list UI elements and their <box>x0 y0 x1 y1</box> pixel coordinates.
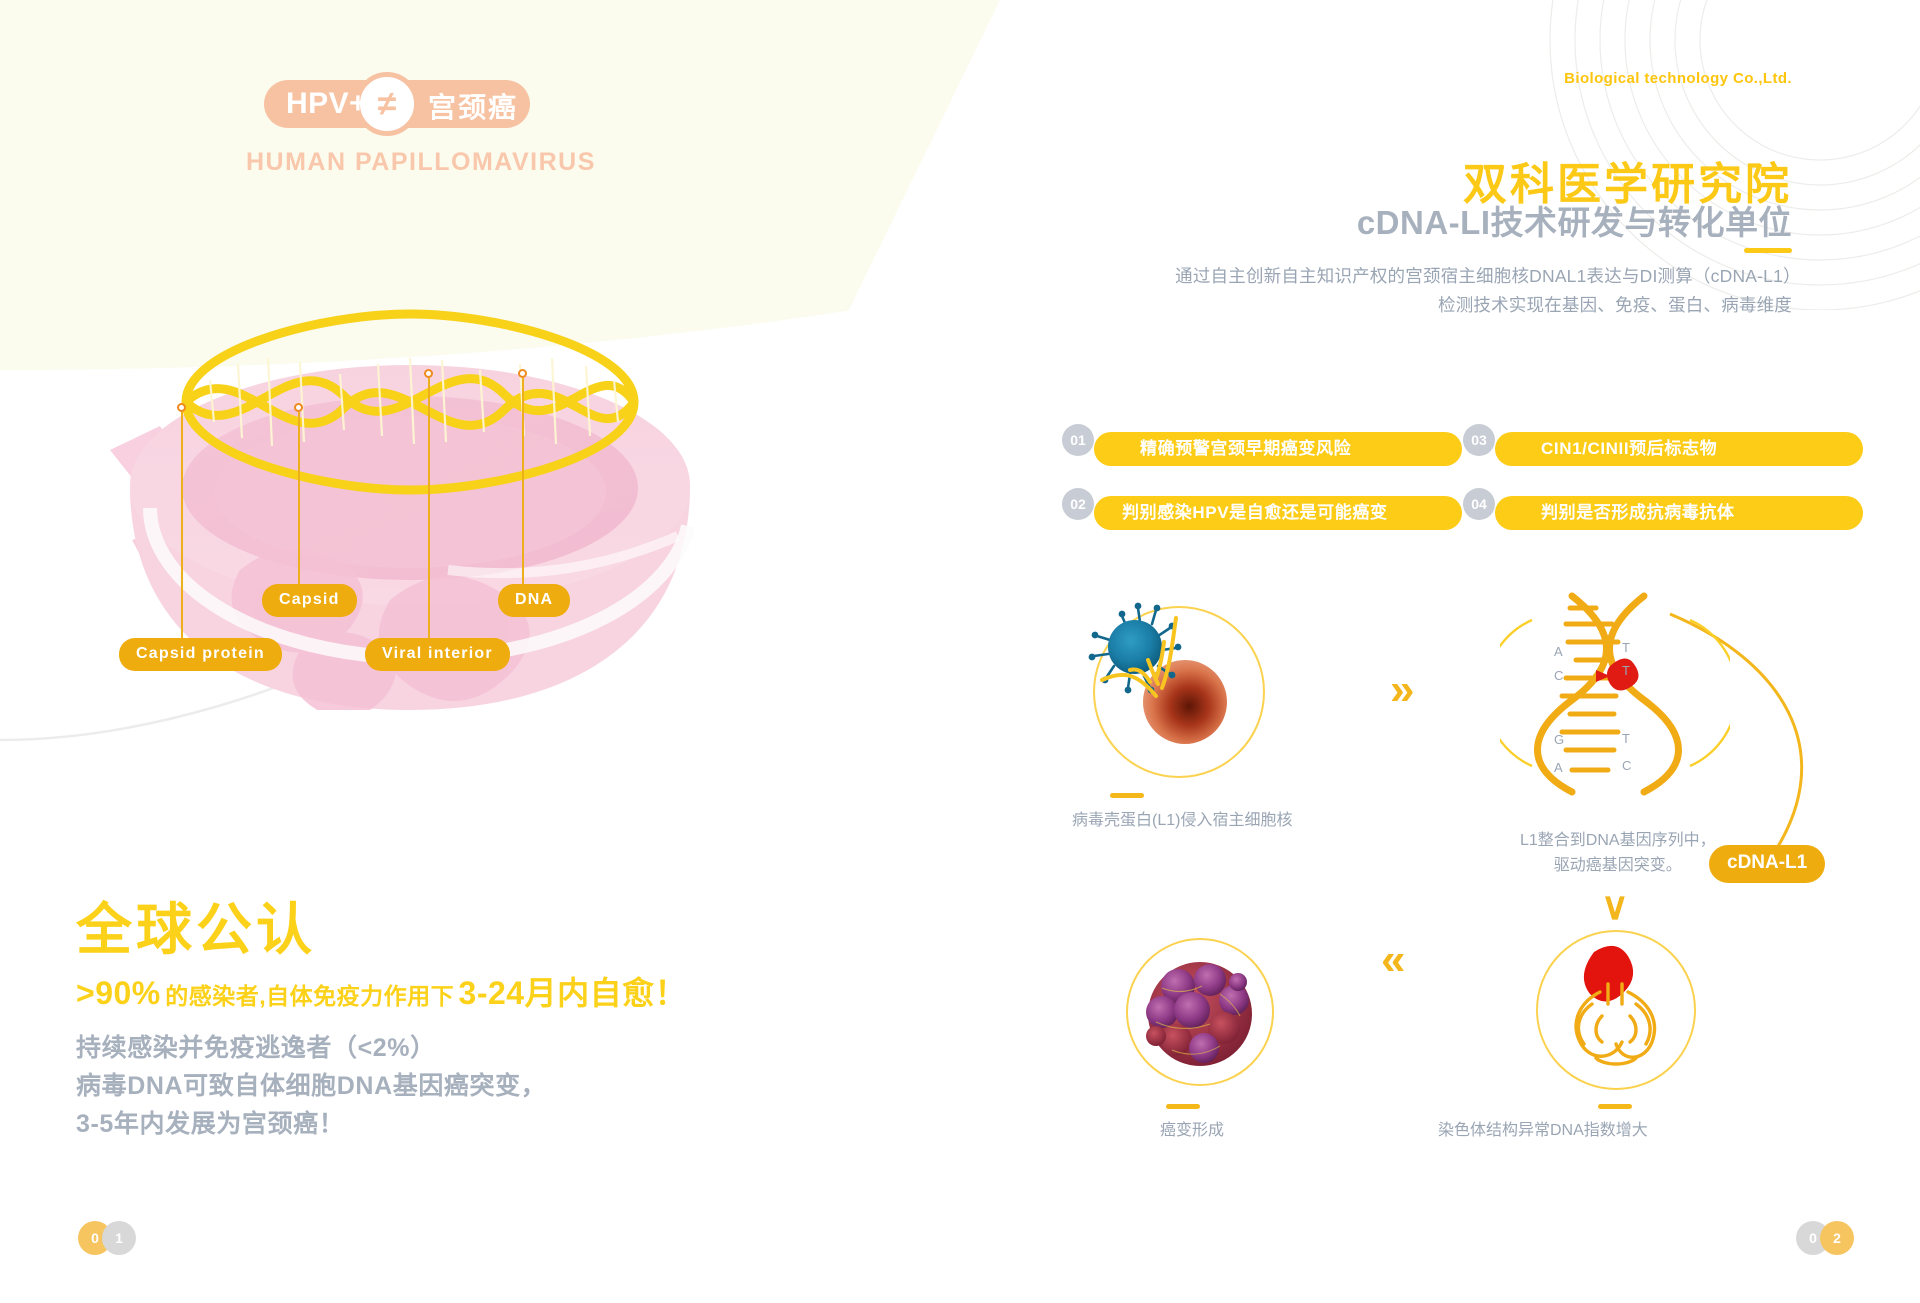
feature-label-02: 判别感染HPV是自愈还是可能癌变 <box>1122 496 1388 530</box>
callout-line-capsid <box>298 412 300 584</box>
statistics-line: >90% 的感染者,自体免疫力作用下 3-24月内自愈！ <box>76 968 687 1014</box>
feature-number-02: 02 <box>1062 488 1094 520</box>
callout-capsid-protein: Capsid protein <box>119 638 282 671</box>
callout-line-capsid-protein <box>181 412 183 638</box>
feature-label-04: 判别是否形成抗病毒抗体 <box>1541 496 1735 530</box>
dna-helix-icon <box>1500 580 1730 800</box>
feature-label-01: 精确预警宫颈早期癌变风险 <box>1140 432 1351 466</box>
body-line-3: 3-5年内发展为宫颈癌！ <box>76 1105 546 1143</box>
body-line-2: 病毒DNA可致自体细胞DNA基因癌突变， <box>76 1067 546 1105</box>
not-equal-icon: ≠ <box>355 72 419 136</box>
cervical-cancer-label: 宫颈癌 <box>428 86 518 126</box>
chromosome-icon <box>1536 930 1696 1090</box>
feature-badge-01[interactable]: 01 精确预警宫颈早期癌变风险 <box>1062 432 1462 466</box>
step3-rule <box>1598 1104 1632 1109</box>
feature-number-03: 03 <box>1463 424 1495 456</box>
dna-letter-left-2: G <box>1554 732 1564 747</box>
feature-number-04: 04 <box>1463 488 1495 520</box>
institute-subtitle: cDNA-LI技术研发与转化单位 <box>1357 196 1792 244</box>
callout-dot-capsid-protein <box>177 403 186 412</box>
feature-badge-04[interactable]: 04 判别是否形成抗病毒抗体 <box>1463 496 1863 530</box>
dna-letter-right-3: C <box>1622 758 1631 773</box>
callout-viral-interior: Viral interior <box>365 638 510 671</box>
callout-line-viral-interior <box>428 378 430 638</box>
arrow-left-icon: « <box>1381 938 1405 982</box>
step4-rule <box>1166 1104 1200 1109</box>
feature-badge-02[interactable]: 02 判别感染HPV是自愈还是可能癌变 <box>1062 496 1462 530</box>
arrow-right-icon: » <box>1390 668 1414 712</box>
feature-number-01: 01 <box>1062 424 1094 456</box>
body-line-1: 持续感染并免疫逃逸者（<2%） <box>76 1029 546 1067</box>
dna-letter-right-1: T <box>1622 663 1630 678</box>
step4-caption: 癌变形成 <box>1160 1118 1224 1143</box>
callout-dot-capsid <box>294 403 303 412</box>
global-headline: 全球公认 <box>76 885 316 966</box>
dna-letter-left-1: C <box>1554 668 1563 683</box>
hpv-subtitle: HUMAN PAPILLOMAVIRUS <box>246 148 596 177</box>
page-left-digit-1: 1 <box>102 1221 136 1255</box>
virus-cell-invasion-icon <box>1080 592 1290 792</box>
infographic-page: HPV+ ≠ 宫颈癌 HUMAN PAPILLOMAVIRUS <box>0 0 1920 1303</box>
step2-caption: L1整合到DNA基因序列中， 驱动癌基因突变。 <box>1520 828 1716 878</box>
dna-letter-right-2: T <box>1622 731 1630 746</box>
page-number-right: 0 2 <box>1776 1221 1868 1255</box>
callout-dot-viral-interior <box>424 369 433 378</box>
step1-rule <box>1110 793 1144 798</box>
callout-line-dna <box>522 378 524 584</box>
company-english-name: Biological technology Co.,Ltd. <box>1564 70 1792 87</box>
title-underline-rule <box>1744 248 1792 253</box>
callout-capsid: Capsid <box>262 584 357 617</box>
page-right-digit-1: 2 <box>1820 1221 1854 1255</box>
page-number-left: 0 1 <box>78 1221 170 1255</box>
cdna-l1-badge: cDNA-L1 <box>1709 845 1825 883</box>
tumour-cluster-icon <box>1126 938 1274 1086</box>
stat-percentage: >90% <box>76 975 161 1011</box>
dna-letter-left-0: A <box>1554 644 1563 659</box>
stat-description: 的感染者,自体免疫力作用下 <box>165 983 454 1009</box>
callout-dot-dna <box>518 369 527 378</box>
step2-caption-line-1: L1整合到DNA基因序列中， <box>1520 828 1716 853</box>
step1-caption: 病毒壳蛋白(L1)侵入宿主细胞核 <box>1072 808 1292 833</box>
feature-badge-03[interactable]: 03 CIN1/CINII预后标志物 <box>1463 432 1863 466</box>
institute-description: 通过自主创新自主知识产权的宫颈宿主细胞核DNAL1表达与DI测算（cDNA-L1… <box>1172 262 1792 320</box>
feature-label-03: CIN1/CINII预后标志物 <box>1541 432 1717 466</box>
step3-caption: 染色体结构异常DNA指数增大 <box>1438 1118 1648 1143</box>
dna-letter-right-0: T <box>1622 640 1630 655</box>
dna-letter-left-3: A <box>1554 760 1563 775</box>
step2-caption-line-2: 驱动癌基因突变。 <box>1520 853 1716 878</box>
callout-dna: DNA <box>498 584 570 617</box>
stat-duration: 3-24月内自愈！ <box>459 975 688 1011</box>
left-body-text: 持续感染并免疫逃逸者（<2%） 病毒DNA可致自体细胞DNA基因癌突变， 3-5… <box>76 1029 546 1143</box>
arrow-down-icon: ∨ <box>1601 888 1629 926</box>
